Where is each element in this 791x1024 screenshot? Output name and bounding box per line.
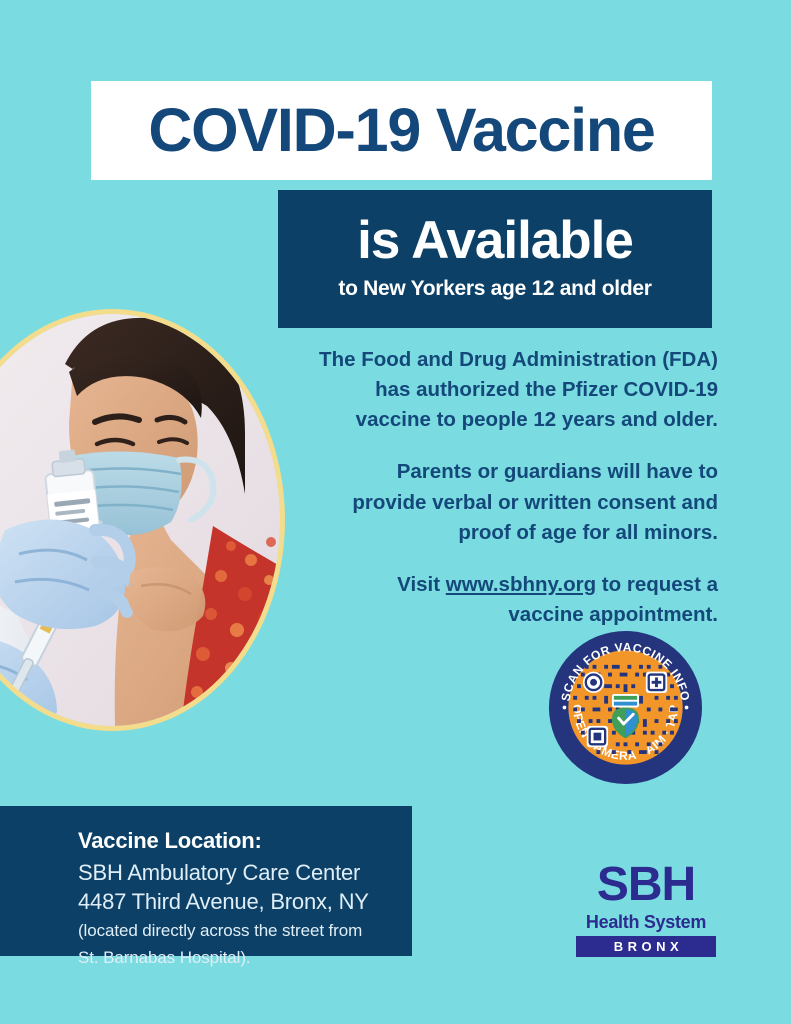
body-copy: The Food and Drug Administration (FDA) h… <box>318 345 718 630</box>
qr-badge-graphic[interactable]: SCAN FOR VACCINE INFO OPEN CAMERA · AIM … <box>548 630 703 785</box>
paragraph-visit: Visit www.sbhny.org to request a vaccine… <box>318 570 718 630</box>
location-title: Vaccine Location: <box>78 828 412 854</box>
logo-bronx-bar: BRONX <box>576 936 716 957</box>
location-note-line-2: St. Barnabas Hospital). <box>78 947 412 969</box>
qr-finder-top-right <box>646 672 667 693</box>
banner-headline: is Available <box>357 213 633 269</box>
page-title: COVID-19 Vaccine <box>148 100 654 161</box>
logo-subtitle: Health System <box>576 913 716 931</box>
qr-code-badge[interactable]: SCAN FOR VACCINE INFO OPEN CAMERA · AIM … <box>548 630 703 785</box>
location-note-line-1: (located directly across the street from <box>78 920 412 942</box>
sbhny-link[interactable]: www.sbhny.org <box>446 573 596 596</box>
vaccine-location-box: Vaccine Location: SBH Ambulatory Care Ce… <box>0 806 412 956</box>
paragraph-fda: The Food and Drug Administration (FDA) h… <box>318 345 718 435</box>
location-address: 4487 Third Avenue, Bronx, NY <box>78 888 412 917</box>
paragraph-consent: Parents or guardians will have to provid… <box>318 457 718 547</box>
qr-finder-bottom-left <box>587 726 608 747</box>
vaccination-photo <box>0 309 285 731</box>
sbh-health-system-logo: SBH Health System BRONX <box>576 861 716 949</box>
visit-prefix: Visit <box>397 573 446 596</box>
location-facility: SBH Ambulatory Care Center <box>78 859 412 888</box>
logo-mark: SBH <box>576 861 716 909</box>
photo-ring <box>0 309 285 731</box>
banner-subline: to New Yorkers age 12 and older <box>338 277 651 301</box>
poster-root: { "colors": { "background_teal": "#7adce… <box>0 0 791 1024</box>
qr-finder-top-left <box>583 672 604 693</box>
availability-banner: is Available to New Yorkers age 12 and o… <box>278 190 712 328</box>
title-banner: COVID-19 Vaccine <box>91 81 712 180</box>
